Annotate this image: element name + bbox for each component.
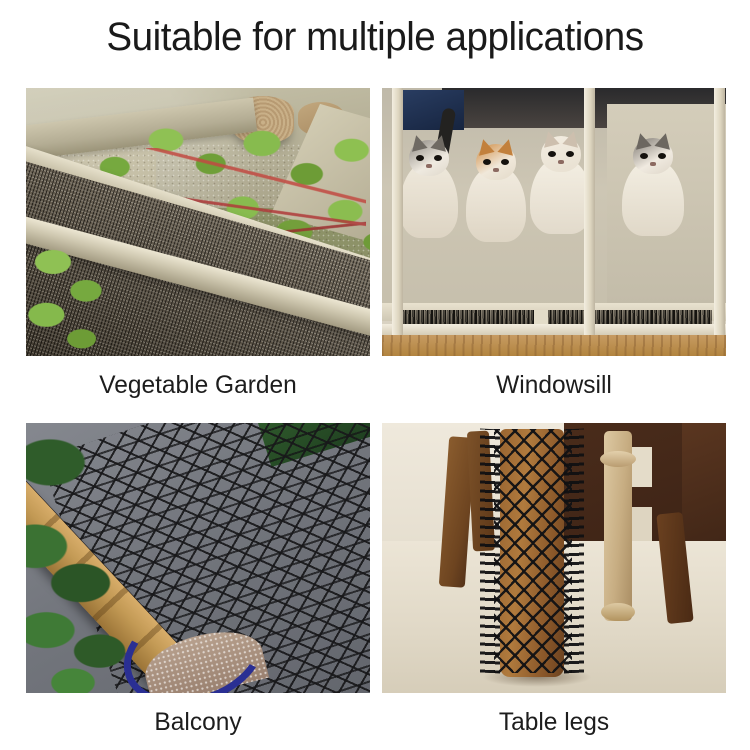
cat-eye-right: [434, 155, 442, 161]
caption-table-legs: Table legs: [385, 707, 722, 737]
application-panel-grid: Vegetable Garden: [26, 88, 726, 698]
photo-balcony: [26, 423, 370, 693]
cat-nose: [558, 160, 564, 164]
cat-nose: [426, 164, 432, 168]
cat-eye-right: [658, 153, 666, 159]
caption-vegetable-garden: Vegetable Garden: [29, 370, 366, 400]
cat-head: [409, 140, 449, 176]
table-leg-knob-upper: [600, 451, 636, 467]
cat-head: [633, 138, 673, 174]
cat-eye-left: [416, 155, 424, 161]
spike-edge-right: [564, 428, 584, 673]
foreground-chard: [26, 238, 130, 356]
cat-nose: [493, 168, 499, 172]
cat-eye-left: [640, 153, 648, 159]
cat-nose: [650, 162, 656, 166]
cat-head: [476, 144, 516, 180]
cat-eye-left: [483, 159, 491, 165]
page-title: Suitable for multiple applications: [13, 14, 737, 60]
cat-eye-left: [548, 151, 556, 157]
green-plant-leaves: [26, 431, 206, 693]
panel-vegetable-garden: Vegetable Garden: [26, 88, 370, 400]
table-leg-knob-lower: [601, 603, 635, 621]
door-frame-center: [584, 88, 595, 338]
cat-eye-right: [501, 159, 509, 165]
photo-table-legs: [382, 423, 726, 693]
infographic-page: Suitable for multiple applications V: [0, 0, 750, 750]
photo-vegetable-garden: [26, 88, 370, 356]
cat-grey-tabby: [400, 140, 458, 240]
panel-windowsill: Windowsill: [382, 88, 726, 400]
photo-windowsill: [382, 88, 726, 356]
cat-grey-white: [622, 138, 684, 240]
cat-ear-left: [475, 137, 494, 155]
cat-ear-left: [540, 129, 559, 147]
door-frame-left: [392, 88, 403, 338]
cat-ear-right: [654, 131, 673, 149]
wooden-floor: [382, 335, 726, 356]
caption-windowsill: Windowsill: [385, 370, 722, 400]
cat-ear-right: [430, 133, 449, 151]
cat-cream-white: [530, 136, 592, 240]
door-frame-right: [714, 88, 725, 338]
spike-edge-left: [480, 428, 500, 673]
caption-balcony: Balcony: [29, 707, 366, 737]
panel-table-legs: Table legs: [382, 423, 726, 737]
cat-ear-left: [408, 133, 427, 151]
cat-ear-right: [497, 137, 516, 155]
cat-head: [541, 136, 581, 172]
cat-ear-left: [632, 131, 651, 149]
cat-orange-white: [466, 144, 526, 242]
panel-balcony: Balcony: [26, 423, 370, 737]
spike-strip-wrapped: [494, 429, 572, 673]
cat-eye-right: [566, 151, 574, 157]
cat-ear-right: [562, 129, 581, 147]
